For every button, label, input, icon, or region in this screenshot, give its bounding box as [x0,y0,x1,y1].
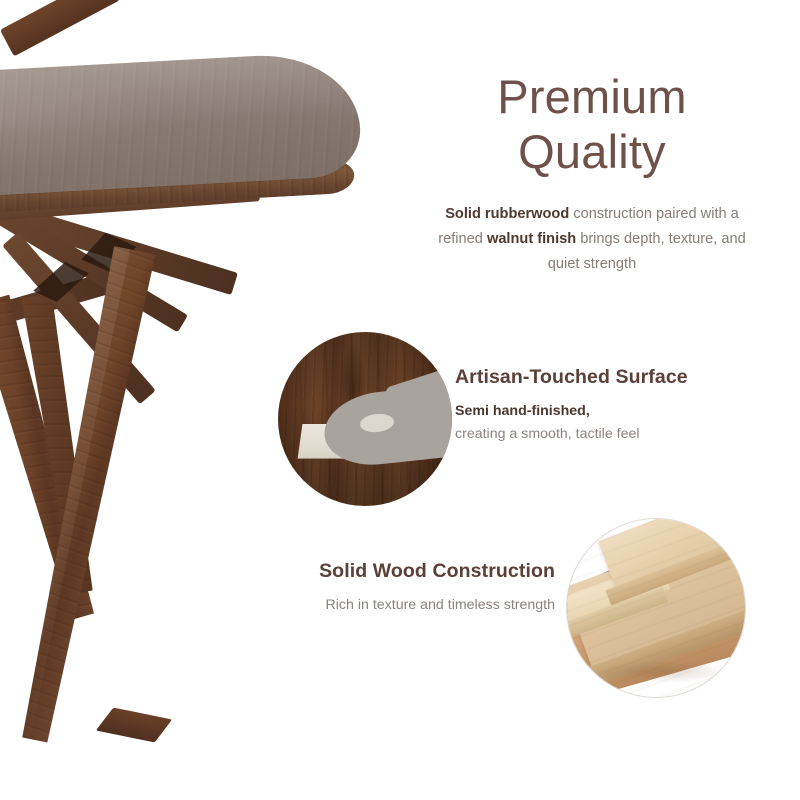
subcopy-bold-rubberwood: Solid rubberwood [445,206,569,222]
headline-block: Premium Quality Solid rubberwood constru… [392,70,792,277]
page-title: Premium Quality [392,70,792,180]
feature-subtext-rest: creating a smooth, tactile feel [455,426,640,442]
headline-line-1: Premium [392,70,792,125]
feature-subtext-bold: Semi hand-finished, [455,403,590,419]
subcopy-text-2: brings depth, texture, and quiet strengt… [548,231,746,272]
feature-title: Artisan-Touched Surface [455,366,765,389]
feature-subtext: Semi hand-finished,creating a smooth, ta… [455,400,765,446]
headline-line-2: Quality [392,125,792,180]
stacked-wood-planks-icon [566,518,746,698]
feature-title: Solid Wood Construction [255,560,555,583]
feature-subtext: Rich in texture and timeless strength [255,594,555,617]
subcopy-bold-walnut: walnut finish [487,231,576,247]
table-leg-foot [96,708,172,743]
planks-photo [567,519,745,697]
feature-artisan-touched-surface: Artisan-Touched Surface Semi hand-finish… [455,366,765,446]
hand-sanding-wood-icon [278,332,452,506]
table-stretcher [0,0,120,56]
feature-solid-wood-construction: Solid Wood Construction Rich in texture … [255,560,555,617]
planks-shadow [593,661,733,683]
infographic-canvas: Premium Quality Solid rubberwood constru… [0,0,800,800]
headline-subcopy: Solid rubberwood construction paired wit… [422,202,762,277]
